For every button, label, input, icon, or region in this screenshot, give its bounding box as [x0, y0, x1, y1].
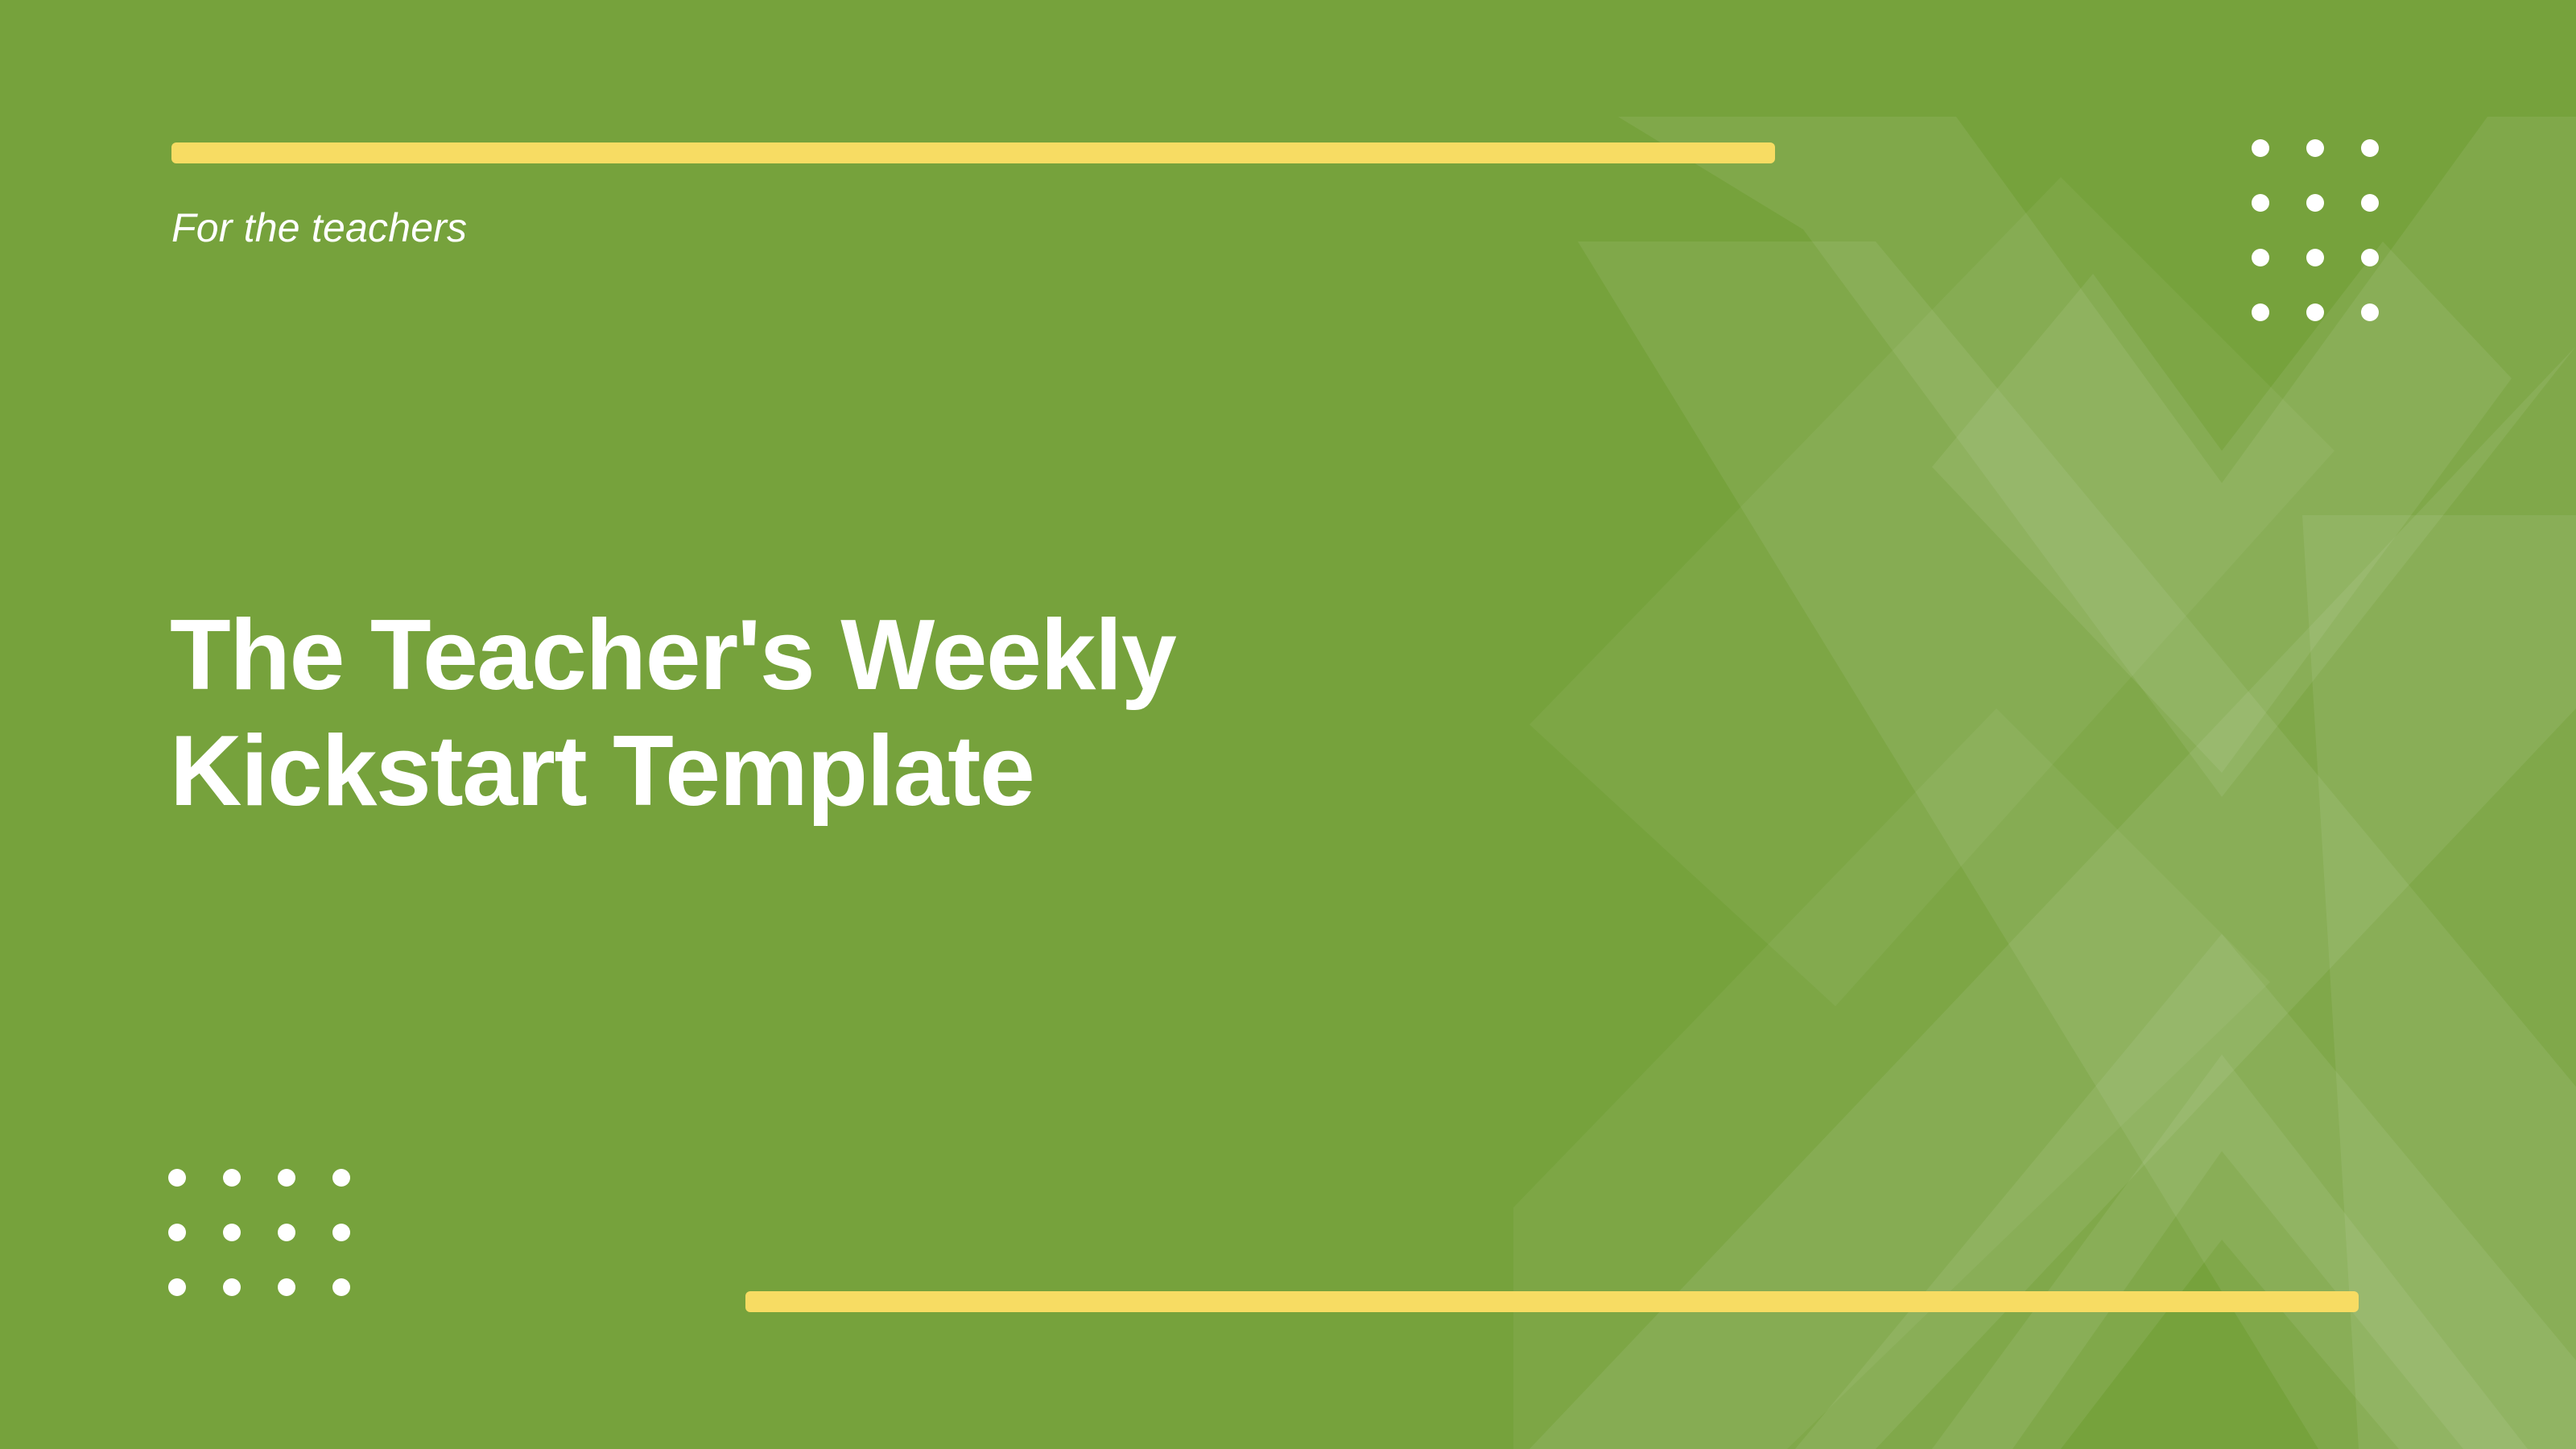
dot [223, 1169, 241, 1187]
bottom-accent-rule [745, 1291, 2359, 1312]
dot [2252, 194, 2269, 212]
dot [332, 1278, 350, 1296]
dot [223, 1278, 241, 1296]
title-line-1: The Teacher's Weekly [170, 598, 1860, 714]
page-title: The Teacher's Weekly Kickstart Template [170, 598, 1860, 830]
dot [278, 1169, 295, 1187]
dot [168, 1224, 186, 1241]
title-slide: For the teachers The Teacher's Weekly Ki… [0, 0, 2576, 1449]
dot [2306, 303, 2324, 321]
eyebrow-text: For the teachers [171, 204, 467, 251]
dot [332, 1224, 350, 1241]
dot [2306, 194, 2324, 212]
dot [2361, 249, 2379, 266]
dot [332, 1169, 350, 1187]
dot-grid-bottom-left [168, 1169, 350, 1296]
dot-grid-top-right [2252, 139, 2379, 321]
dot [278, 1224, 295, 1241]
dot [2252, 303, 2269, 321]
dot [2361, 194, 2379, 212]
dot [2306, 139, 2324, 157]
dot [168, 1278, 186, 1296]
dot [168, 1169, 186, 1187]
dot [223, 1224, 241, 1241]
dot [2361, 139, 2379, 157]
dot [2306, 249, 2324, 266]
dot [2252, 139, 2269, 157]
top-accent-rule [171, 142, 1775, 163]
dot [2361, 303, 2379, 321]
title-line-2: Kickstart Template [170, 714, 1860, 830]
dot [278, 1278, 295, 1296]
dot [2252, 249, 2269, 266]
